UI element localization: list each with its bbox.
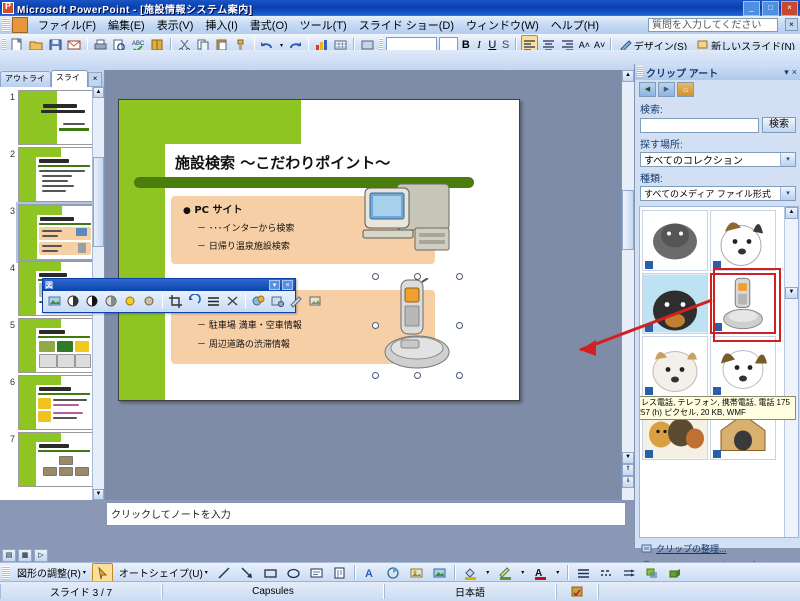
thumb-text-line	[63, 123, 85, 125]
drawing-toolbar-grip[interactable]	[2, 566, 10, 580]
chevron-down-icon[interactable]: ▾	[780, 187, 795, 200]
scrollbar-thumb[interactable]	[93, 157, 104, 247]
slide-number: 3	[2, 204, 18, 216]
organize-clips-label: クリップの整理...	[656, 542, 727, 555]
slide-canvas[interactable]: 施設検索 ～こだわりポイント～ ● PC サイト － ･･･インターから検索 －…	[118, 99, 520, 401]
document-icon	[12, 17, 28, 33]
thumb-title-line	[41, 110, 85, 113]
close-pane-button[interactable]: ×	[88, 72, 102, 87]
font-color-icon[interactable]: A	[530, 563, 551, 583]
format-picture-icon[interactable]	[269, 291, 286, 311]
thumb-accent-top	[19, 433, 61, 442]
picture-toolbar-options-button[interactable]: ▾	[269, 280, 280, 290]
resize-handle-sw[interactable]	[372, 372, 379, 379]
picture-toolbar[interactable]: 図 ▾ ×	[42, 278, 296, 313]
text-box-icon[interactable]	[306, 563, 327, 583]
maximize-button[interactable]: □	[762, 1, 779, 16]
menu-item-file[interactable]: ファイル(F)	[32, 15, 102, 35]
resize-handle-nw[interactable]	[372, 273, 379, 280]
less-contrast-icon[interactable]	[103, 291, 120, 311]
toolbar-separator	[454, 565, 456, 580]
slide-number: 6	[2, 375, 18, 387]
resize-handle-n[interactable]	[414, 273, 421, 280]
close-document-button[interactable]: ×	[785, 18, 798, 31]
menu-grip[interactable]	[2, 18, 10, 32]
thumb-text-line	[42, 180, 68, 182]
slide-show-button[interactable]: ▷	[34, 549, 48, 562]
thumb-text-line	[42, 235, 58, 237]
task-pane-close-button[interactable]: ×	[792, 67, 797, 78]
thumb-text-line	[42, 245, 62, 247]
thumb-title-line	[39, 387, 71, 391]
picture-toolbar-titlebar[interactable]: 図 ▾ ×	[43, 279, 295, 291]
computer-clipart[interactable]	[359, 178, 455, 256]
clip-result-1[interactable]	[642, 210, 708, 271]
slide-title[interactable]: 施設検索 ～こだわりポイント～	[175, 152, 390, 173]
slide-thumbnail-1[interactable]	[18, 90, 96, 145]
menu-item-format[interactable]: 書式(O)	[244, 15, 294, 35]
thumb-text-line	[53, 417, 77, 419]
more-brightness-icon[interactable]	[122, 291, 139, 311]
organize-icon	[641, 543, 652, 554]
thumb-text-line	[42, 230, 62, 232]
draw-menu-label: 図形の調整(R)	[17, 565, 81, 580]
fill-color-dropdown-icon[interactable]: ▾	[483, 563, 493, 583]
thumb-accent-top	[19, 319, 61, 328]
shadow-style-icon[interactable]	[642, 563, 663, 583]
thumb-rule	[59, 128, 89, 131]
type-select[interactable]: すべてのメディア ファイル形式 ▾	[640, 186, 796, 201]
thumb-node	[43, 467, 57, 476]
line-color-icon[interactable]	[495, 563, 516, 583]
notes-input[interactable]: クリックしてノートを入力	[106, 502, 626, 526]
thumbnail-pane-tabs: アウトライン スライド ×	[0, 70, 104, 87]
slide-thumbnail-3[interactable]	[18, 204, 98, 261]
slide-thumbnail-5[interactable]	[18, 318, 96, 373]
task-pane-header: クリップ アート ▾ ×	[635, 64, 800, 80]
clip-badge-icon	[645, 261, 653, 269]
thumb-text-line	[42, 175, 72, 177]
font-color-dropdown-icon[interactable]: ▾	[553, 563, 563, 583]
title-bar: Microsoft PowerPoint - [施設情報システム案内] _ □ …	[0, 0, 800, 16]
clip-results-list[interactable]: ▲ ▼ コードレス電話, テレフォン, 携帯電話, 電話 175 (w) x 2…	[639, 206, 799, 538]
list-item[interactable]: 1	[0, 87, 104, 144]
dash-style-icon[interactable]	[596, 563, 617, 583]
task-pane-grip[interactable]	[637, 66, 643, 78]
thumb-title-line	[40, 217, 74, 221]
toolbar-separator	[245, 294, 246, 309]
menu-item-edit[interactable]: 編集(E)	[102, 15, 151, 35]
chevron-down-icon: ▾	[205, 569, 208, 576]
thumb-image	[57, 354, 75, 368]
tab-outline[interactable]: アウトライン	[0, 71, 51, 87]
list-item[interactable]: 5	[0, 315, 104, 372]
clip-result-6[interactable]	[710, 336, 776, 397]
insert-diagram-icon[interactable]	[383, 563, 404, 583]
search-button[interactable]: 検索	[762, 117, 796, 133]
thumb-node	[75, 467, 89, 476]
thumb-image	[75, 341, 89, 352]
organize-clips-link[interactable]: クリップの整理...	[639, 540, 799, 557]
scroll-down-button[interactable]: ▼	[785, 287, 798, 299]
select-objects-icon[interactable]	[92, 563, 113, 583]
clip-badge-icon	[713, 450, 721, 458]
thumb-text-line	[53, 399, 87, 401]
slide-number: 1	[2, 90, 18, 102]
clip-result-5[interactable]	[642, 336, 708, 397]
draw-menu-button[interactable]: 図形の調整(R) ▾	[12, 563, 91, 582]
annotation-highlight-box	[713, 268, 781, 342]
list-item[interactable]: 7	[0, 429, 104, 486]
thumb-rule	[38, 165, 90, 167]
home-icon[interactable]: ⌂	[677, 82, 694, 97]
menu-item-slideshow[interactable]: スライド ショー(D)	[353, 15, 460, 35]
minimize-button[interactable]: _	[743, 1, 760, 16]
menu-bar: ファイル(F) 編集(E) 表示(V) 挿入(I) 書式(O) ツール(T) ス…	[0, 16, 800, 35]
sub-bullet-2-2[interactable]: － 周辺道路の渋滞情報	[197, 337, 290, 350]
thumb-text-line	[42, 250, 58, 252]
menu-item-insert[interactable]: 挿入(I)	[199, 15, 243, 35]
view-buttons: ▤ ▦ ▷	[2, 548, 102, 562]
type-label: 種類:	[635, 167, 800, 186]
toolbar-separator	[354, 565, 356, 580]
next-slide-button[interactable]: ⇓	[622, 476, 634, 488]
normal-view-button[interactable]: ▤	[2, 549, 16, 562]
task-pane-nav: ◀ ▶ ⌂	[635, 80, 800, 98]
autoshapes-label: オートシェイプ(U)	[119, 565, 203, 580]
location-value: すべてのコレクション	[644, 152, 743, 167]
picture-toolbar-title: 図	[45, 280, 53, 291]
clip-badge-icon	[713, 387, 721, 395]
slide-number: 5	[2, 318, 18, 330]
scroll-down-button[interactable]: ▼	[93, 489, 104, 500]
scroll-up-button[interactable]: ▲	[93, 87, 104, 98]
crop-icon[interactable]	[167, 291, 184, 311]
clip-badge-icon	[645, 387, 653, 395]
less-brightness-icon[interactable]	[141, 291, 158, 311]
insert-wordart-icon[interactable]: A	[360, 563, 381, 583]
thumb-text-line	[39, 170, 85, 172]
window-controls: _ □ ×	[743, 1, 798, 16]
resize-handle-s[interactable]	[414, 372, 421, 379]
resize-handle-ne[interactable]	[456, 273, 463, 280]
thumb-accent-top	[19, 148, 61, 157]
3d-style-icon[interactable]	[665, 563, 686, 583]
spell-check-icon[interactable]	[556, 584, 598, 599]
powerpoint-icon	[2, 2, 14, 14]
slide-indicator: スライド 3 / 7	[0, 584, 162, 599]
notes-pane: クリックしてノートを入力	[105, 500, 633, 532]
tab-slides[interactable]: スライド	[51, 70, 88, 87]
thumb-image	[57, 341, 73, 352]
thumb-title-line	[39, 330, 65, 334]
insert-picture-icon[interactable]	[46, 291, 63, 311]
thumb-image	[75, 354, 91, 368]
slide-number: 7	[2, 432, 18, 444]
toolbar-separator	[162, 294, 163, 309]
clip-tooltip: コードレス電話, テレフォン, 携帯電話, 電話 175 (w) x 257 (…	[639, 396, 796, 420]
slide-accent-top	[119, 100, 301, 144]
thumb-accent-top	[19, 376, 61, 385]
location-select[interactable]: すべてのコレクション ▾	[640, 152, 796, 167]
thumb-image	[78, 243, 86, 253]
svg-text:A: A	[365, 568, 373, 580]
thumb-rule	[38, 450, 90, 452]
window-title: Microsoft PowerPoint - [施設情報システム案内]	[17, 1, 253, 16]
task-pane-dropdown-button[interactable]: ▾	[784, 67, 789, 78]
resize-handle-se[interactable]	[456, 372, 463, 379]
thumb-title-line	[43, 104, 77, 108]
cordless-phone-clipart[interactable]	[377, 278, 457, 374]
scrollbar-thumb[interactable]	[622, 190, 634, 250]
thumb-image	[39, 341, 55, 352]
thumb-node	[59, 467, 73, 476]
line-style-icon[interactable]	[573, 563, 594, 583]
language-indicator: 日本語	[384, 584, 556, 599]
drawing-toolbar: 図形の調整(R) ▾ オートシェイプ(U) ▾ A ▾ ▾ A ▾	[0, 562, 800, 582]
slide-number: 4	[2, 261, 18, 273]
slide-pane-scrollbar[interactable]: ▲ ▼ ⇑ ⇓	[621, 70, 634, 500]
scroll-down-button[interactable]: ▼	[622, 452, 634, 464]
rectangle-icon[interactable]	[260, 563, 281, 583]
slide-accent-left	[119, 100, 165, 400]
scroll-up-button[interactable]: ▲	[785, 207, 798, 219]
bullet-1[interactable]: ● PC サイト	[183, 201, 243, 216]
thumb-rule	[38, 336, 90, 338]
arrow-style-icon[interactable]	[619, 563, 640, 583]
slide-number: 2	[2, 147, 18, 159]
sub-bullet-2-1[interactable]: － 駐車場 満車・空車情報	[197, 318, 302, 331]
rotate-left-icon[interactable]	[186, 291, 203, 311]
thumb-text-line	[42, 190, 66, 192]
task-pane-title: クリップ アート	[646, 65, 718, 80]
thumb-title-line	[39, 444, 69, 448]
reset-picture-icon[interactable]	[307, 291, 324, 311]
set-transparent-color-icon[interactable]	[288, 291, 305, 311]
menu-item-tools[interactable]: ツール(T)	[294, 15, 353, 35]
search-input[interactable]	[640, 118, 759, 133]
clip-badge-icon	[645, 450, 653, 458]
chevron-down-icon: ▾	[83, 569, 86, 576]
menu-item-view[interactable]: 表示(V)	[151, 15, 200, 35]
picture-toolbar-buttons	[43, 291, 295, 311]
thumb-image	[76, 228, 87, 236]
thumb-rule	[39, 223, 91, 225]
thumb-image	[39, 354, 57, 368]
recolor-picture-icon[interactable]	[250, 291, 267, 311]
insert-picture-icon[interactable]	[429, 563, 450, 583]
status-empty	[598, 584, 800, 599]
vertical-text-box-icon[interactable]	[329, 563, 350, 583]
ask-a-question-input[interactable]: 質問を入力してください	[648, 18, 778, 32]
thumb-node	[59, 456, 73, 465]
clip-result-2[interactable]	[710, 210, 776, 271]
color-icon[interactable]	[65, 291, 82, 311]
list-item[interactable]: 2	[0, 144, 104, 201]
type-value: すべてのメディア ファイル形式	[644, 187, 771, 200]
thumb-text-line	[53, 412, 83, 414]
picture-toolbar-close-button[interactable]: ×	[282, 280, 293, 290]
more-contrast-icon[interactable]	[84, 291, 101, 311]
compress-pictures-icon[interactable]	[224, 291, 241, 311]
close-button[interactable]: ×	[781, 1, 798, 16]
slide-thumbnail-2[interactable]	[18, 147, 96, 202]
clip-result-3[interactable]	[642, 273, 708, 334]
status-bar: スライド 3 / 7 Capsules 日本語	[0, 581, 800, 601]
design-template-indicator: Capsules	[162, 584, 384, 599]
thumb-accent-top	[20, 206, 62, 215]
search-row: 検索	[635, 117, 800, 133]
thumb-accent	[19, 91, 57, 144]
autoshapes-menu-button[interactable]: オートシェイプ(U) ▾	[114, 563, 213, 582]
thumb-title-line	[39, 159, 69, 163]
line-style-icon[interactable]	[205, 291, 222, 311]
fill-color-icon[interactable]	[460, 563, 481, 583]
back-icon[interactable]: ◀	[639, 82, 656, 97]
search-label: 検索:	[635, 98, 800, 117]
arrow-icon[interactable]	[237, 563, 258, 583]
thumb-text-line	[53, 404, 79, 406]
sub-bullet-1-1[interactable]: － ･･･インターから検索	[197, 221, 294, 234]
thumb-rule	[38, 393, 90, 395]
scroll-up-button[interactable]: ▲	[622, 70, 634, 82]
slide-thumbnail-7[interactable]	[18, 432, 96, 487]
clip-badge-icon	[645, 324, 653, 332]
powerpoint-window: Microsoft PowerPoint - [施設情報システム案内] _ □ …	[0, 0, 800, 600]
menu-item-help[interactable]: ヘルプ(H)	[545, 15, 605, 35]
chevron-down-icon[interactable]: ▾	[780, 153, 795, 166]
menu-item-window[interactable]: ウィンドウ(W)	[460, 15, 545, 35]
thumb-image	[38, 411, 51, 422]
previous-slide-button[interactable]: ⇑	[622, 464, 634, 476]
resize-handle-w[interactable]	[372, 322, 379, 329]
svg-text:ABC: ABC	[132, 41, 145, 47]
slide-sorter-view-button[interactable]: ▦	[18, 549, 32, 562]
resize-handle-e[interactable]	[456, 322, 463, 329]
results-scrollbar[interactable]: ▲ ▼	[784, 207, 798, 537]
line-icon[interactable]	[214, 563, 235, 583]
list-item[interactable]: 6	[0, 372, 104, 429]
location-label: 探す場所:	[635, 133, 800, 152]
thumb-text-line	[42, 185, 74, 187]
forward-icon[interactable]: ▶	[658, 82, 675, 97]
list-item-selected[interactable]: 3	[0, 201, 104, 258]
thumb-accent-top	[19, 262, 61, 271]
sub-bullet-1-2[interactable]: － 日帰り温泉施設検索	[197, 239, 290, 252]
line-color-dropdown-icon[interactable]: ▾	[518, 563, 528, 583]
oval-icon[interactable]	[283, 563, 304, 583]
thumb-image	[38, 398, 51, 409]
toolbar-separator	[567, 565, 569, 580]
thumb-title-line	[39, 273, 67, 277]
slide-thumbnail-6[interactable]	[18, 375, 96, 430]
insert-clipart-icon[interactable]	[406, 563, 427, 583]
